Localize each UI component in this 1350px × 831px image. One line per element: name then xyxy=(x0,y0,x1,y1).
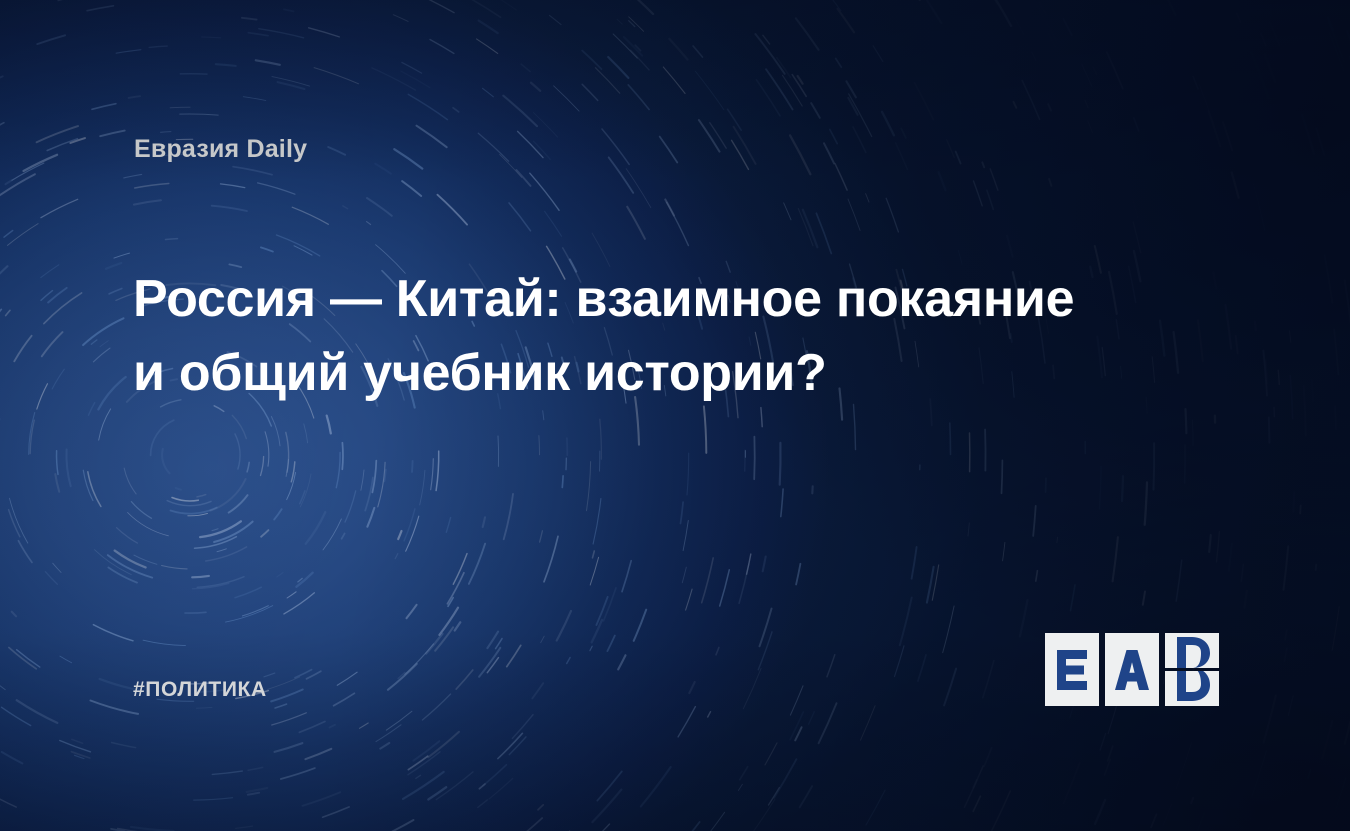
letter-a-icon xyxy=(1113,648,1151,692)
logo-tile-e xyxy=(1045,633,1099,706)
letter-e-icon xyxy=(1055,648,1089,692)
letter-d-bottom-icon xyxy=(1165,671,1219,706)
logo-tile-d-bottom xyxy=(1165,671,1219,706)
brand-label: Евразия Daily xyxy=(134,135,307,164)
page-title-line-1: Россия — Китай: взаимное покаяние xyxy=(133,262,1143,336)
category-tag: #ПОЛИТИКА xyxy=(133,678,267,702)
logo-tile-d-top xyxy=(1165,633,1219,668)
share-card: Евразия Daily Россия — Китай: взаимное п… xyxy=(0,0,1350,831)
logo-tile-d-split xyxy=(1165,633,1219,706)
logo-tile-a xyxy=(1105,633,1159,706)
eadaily-logo[interactable] xyxy=(1045,633,1223,706)
page-title-line-2: и общий учебник истории? xyxy=(133,336,1143,410)
letter-d-top-icon xyxy=(1165,633,1219,668)
card-content: Евразия Daily Россия — Китай: взаимное п… xyxy=(0,0,1350,831)
page-title: Россия — Китай: взаимное покаяние и общи… xyxy=(133,262,1143,410)
